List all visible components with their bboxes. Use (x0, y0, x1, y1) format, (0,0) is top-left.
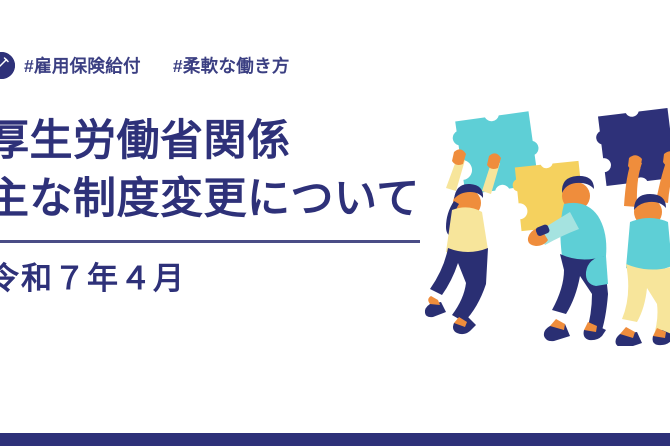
hashtag-item-2[interactable]: #柔軟な働き方 (173, 53, 290, 78)
bottom-accent-bar (0, 433, 670, 446)
subtitle-date: 令和７年４月 (0, 253, 186, 298)
page-title: 厚生労働省関係 主な制度変更について (0, 112, 456, 229)
slide-canvas: #雇用保険給付 #柔軟な働き方 厚生労働省関係 主な制度変更について 令和７年４… (0, 0, 670, 446)
hashtag-item-1[interactable]: #雇用保険給付 (24, 53, 141, 78)
pen-circle-icon (0, 52, 15, 79)
illustration-three-people-puzzle (424, 96, 670, 346)
hashtag-row: #雇用保険給付 #柔軟な働き方 (0, 52, 290, 79)
figure-middle-man (511, 160, 608, 341)
title-divider (0, 240, 420, 243)
title-line-2: 主な制度変更について (0, 170, 456, 228)
title-line-1: 厚生労働省関係 (0, 112, 456, 170)
